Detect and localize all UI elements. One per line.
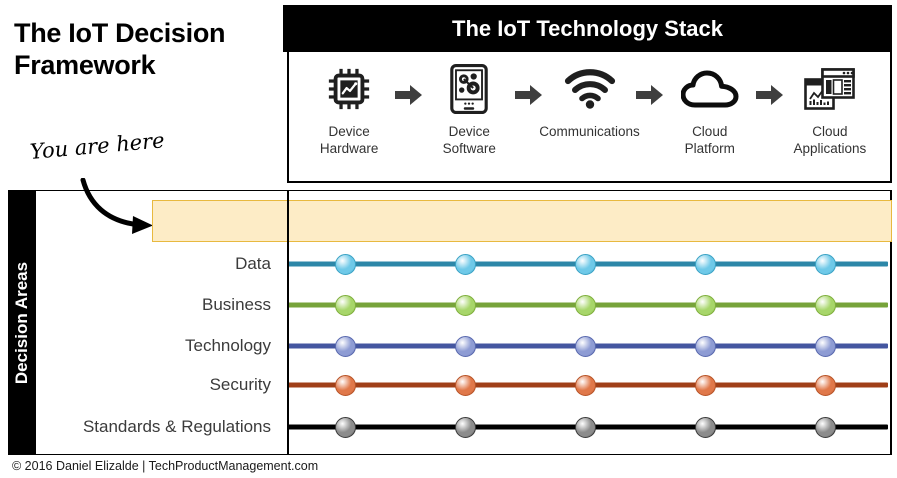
stack-column-label: Communications bbox=[534, 124, 646, 141]
footer-copyright: © 2016 Daniel Elizalde | TechProductMana… bbox=[12, 459, 318, 473]
decision-cell-dot[interactable] bbox=[575, 336, 596, 357]
stack-column-label: Cloud Platform bbox=[654, 124, 766, 158]
decision-cell-dot[interactable] bbox=[695, 254, 716, 275]
stack-column-label: Device Software bbox=[413, 124, 525, 158]
stack-column-label: Cloud Applications bbox=[774, 124, 886, 158]
decision-row-label: Data bbox=[235, 254, 287, 274]
decision-cell-dot[interactable] bbox=[455, 295, 476, 316]
decision-cell-dot[interactable] bbox=[455, 375, 476, 396]
right-arrow-icon bbox=[515, 84, 543, 106]
matrix-vertical-divider bbox=[287, 190, 289, 455]
decision-cell-dot[interactable] bbox=[815, 295, 836, 316]
right-arrow-icon bbox=[636, 84, 664, 106]
decision-cell-dot[interactable] bbox=[455, 336, 476, 357]
browser-windows-icon bbox=[804, 58, 856, 120]
stack-label-line2: Platform bbox=[654, 141, 766, 158]
decision-row[interactable]: Data bbox=[36, 244, 892, 284]
stack-label-line1: Device bbox=[413, 124, 525, 141]
decision-cell-dot[interactable] bbox=[695, 336, 716, 357]
decision-cell-dot[interactable] bbox=[695, 295, 716, 316]
stack-column-communications[interactable]: Communications bbox=[529, 52, 649, 181]
decision-cell-dot[interactable] bbox=[575, 295, 596, 316]
decision-row[interactable]: Technology bbox=[36, 326, 892, 366]
decision-row[interactable]: Business bbox=[36, 285, 892, 325]
decision-cell-dot[interactable] bbox=[815, 417, 836, 438]
stack-label-line1: Device bbox=[293, 124, 405, 141]
right-arrow-icon bbox=[395, 84, 423, 106]
decision-cell-dot[interactable] bbox=[455, 417, 476, 438]
stack-label-line2: Hardware bbox=[293, 141, 405, 158]
decision-areas-label: Decision Areas bbox=[12, 261, 32, 383]
stack-column-device-software[interactable]: Device Software bbox=[409, 52, 529, 181]
stack-label-line2: Software bbox=[413, 141, 525, 158]
decision-row[interactable]: Standards & Regulations bbox=[36, 407, 892, 447]
stack-column-label: Device Hardware bbox=[293, 124, 405, 158]
decision-row-label: Business bbox=[202, 295, 287, 315]
decision-cell-dot[interactable] bbox=[815, 254, 836, 275]
you-are-here-annotation: You are here bbox=[29, 128, 166, 164]
decision-cell-dot[interactable] bbox=[335, 336, 356, 357]
decision-cell-dot[interactable] bbox=[575, 375, 596, 396]
decision-cell-dot[interactable] bbox=[695, 375, 716, 396]
tablet-gears-icon bbox=[448, 58, 490, 120]
stack-label-line1: Cloud bbox=[654, 124, 766, 141]
ux-highlight-band bbox=[152, 200, 892, 242]
decision-row[interactable]: Security bbox=[36, 365, 892, 405]
technology-stack-panel: Device Hardware bbox=[287, 52, 892, 183]
stack-label-line2: Applications bbox=[774, 141, 886, 158]
right-arrow-icon bbox=[756, 84, 784, 106]
decision-cell-dot[interactable] bbox=[575, 417, 596, 438]
decision-cell-dot[interactable] bbox=[695, 417, 716, 438]
cloud-icon bbox=[681, 58, 739, 120]
decision-row-label: Security bbox=[210, 375, 287, 395]
decision-cell-dot[interactable] bbox=[575, 254, 596, 275]
decision-cell-dot[interactable] bbox=[335, 375, 356, 396]
page-title: The IoT Decision Framework bbox=[14, 18, 284, 82]
decision-areas-sidebar: Decision Areas bbox=[8, 190, 36, 455]
stack-label-line1: Cloud bbox=[774, 124, 886, 141]
decision-cell-dot[interactable] bbox=[335, 417, 356, 438]
decision-cell-dot[interactable] bbox=[455, 254, 476, 275]
iot-decision-framework-diagram: The IoT Decision Framework You are here … bbox=[0, 0, 897, 478]
decision-cell-dot[interactable] bbox=[335, 254, 356, 275]
stack-column-device-hardware[interactable]: Device Hardware bbox=[289, 52, 409, 181]
stack-column-cloud-applications[interactable]: Cloud Applications bbox=[770, 52, 890, 181]
wifi-icon bbox=[564, 58, 616, 120]
decision-cell-dot[interactable] bbox=[335, 295, 356, 316]
decision-row-label: Technology bbox=[185, 336, 287, 356]
decision-row-label: Standards & Regulations bbox=[83, 417, 287, 437]
microchip-icon bbox=[326, 58, 372, 120]
stack-column-cloud-platform[interactable]: Cloud Platform bbox=[650, 52, 770, 181]
stack-header-title: The IoT Technology Stack bbox=[283, 5, 892, 52]
stack-label-line1: Communications bbox=[534, 124, 646, 141]
decision-cell-dot[interactable] bbox=[815, 336, 836, 357]
decision-cell-dot[interactable] bbox=[815, 375, 836, 396]
